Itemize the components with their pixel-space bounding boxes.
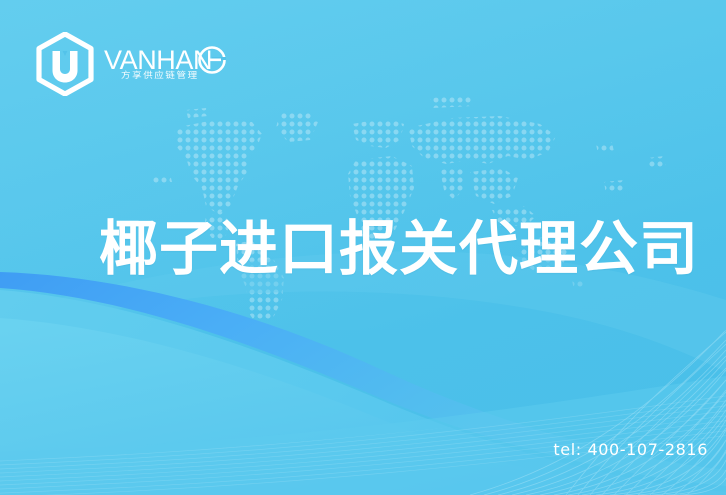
brand-subtitle-cn: 方享供应链管理 (121, 68, 199, 81)
contact-phone[interactable]: tel: 400-107-2816 (553, 440, 708, 459)
page-title: 椰子进口报关代理公司 (99, 218, 699, 280)
promo-banner: VANHAN 方享供应链管理 椰子进口报关代理公司 tel: 400-107-2… (0, 0, 726, 495)
vanhang-hexagon-u-logo-icon (34, 32, 96, 96)
brand-logo[interactable]: VANHAN 方享供应链管理 (34, 33, 226, 95)
brand-wordmark-block: VANHAN 方享供应链管理 (104, 33, 226, 95)
